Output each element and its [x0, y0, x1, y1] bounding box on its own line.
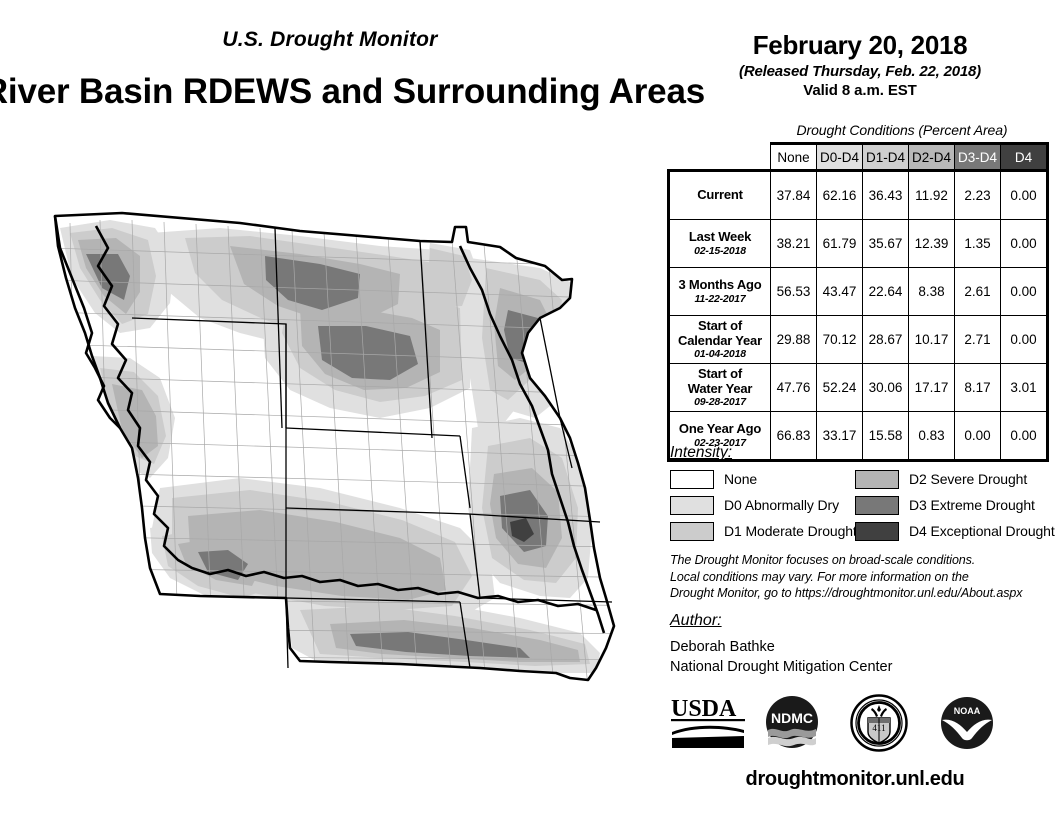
table-row-date: 11-22-2017	[672, 293, 768, 305]
table-cell-d0-d4: 52.24	[817, 364, 863, 412]
table-col-header-d2-d4: D2-D4	[909, 144, 955, 171]
table-row-date: 01-04-2018	[672, 348, 768, 360]
table-cell-d3-d4: 2.61	[955, 268, 1001, 316]
author-affiliation: National Drought Mitigation Center	[670, 657, 892, 677]
table-col-header-none: None	[771, 144, 817, 171]
table-row: Start ofCalendar Year01-04-201829.8870.1…	[669, 316, 1048, 364]
table-cell-d4: 3.01	[1001, 364, 1048, 412]
drought-conditions-table: NoneD0-D4D1-D4D2-D4D3-D4D4 Current37.846…	[667, 142, 1049, 462]
intensity-label: Intensity:	[670, 444, 1045, 462]
table-row-name: Start ofCalendar Year	[672, 319, 768, 348]
disclaimer-line: The Drought Monitor focuses on broad-sca…	[670, 552, 1050, 569]
author-name: Deborah Bathke	[670, 637, 892, 657]
legend-swatch	[855, 522, 899, 541]
date-block: February 20, 2018 (Released Thursday, Fe…	[690, 30, 1030, 99]
table-cell-d2-d4: 11.92	[909, 171, 955, 220]
legend-label: D1 Moderate Drought	[724, 523, 857, 539]
table-row-name: Start ofWater Year	[672, 367, 768, 396]
table-cell-none: 29.88	[771, 316, 817, 364]
table-cell-d1-d4: 35.67	[863, 220, 909, 268]
map-drought-layers	[0, 128, 660, 688]
table-cell-d1-d4: 30.06	[863, 364, 909, 412]
table-corner-blank	[669, 144, 771, 171]
table-cell-d4: 0.00	[1001, 220, 1048, 268]
ndmc-logo-text: NDMC	[771, 710, 813, 726]
table-row-name: Current	[672, 188, 768, 203]
table-cell-none: 38.21	[771, 220, 817, 268]
table-cell-d4: 0.00	[1001, 316, 1048, 364]
legend-label: D0 Abnormally Dry	[724, 497, 839, 513]
table-cell-d2-d4: 8.38	[909, 268, 955, 316]
author-label: Author:	[670, 612, 722, 630]
table-row-label: Current	[669, 171, 771, 220]
table-cell-d0-d4: 70.12	[817, 316, 863, 364]
table-cell-none: 47.76	[771, 364, 817, 412]
table-cell-d2-d4: 10.17	[909, 316, 955, 364]
table-cell-d1-d4: 22.64	[863, 268, 909, 316]
table-row: 3 Months Ago11-22-201756.5343.4722.648.3…	[669, 268, 1048, 316]
legend-item-d3: D3 Extreme Drought	[855, 495, 1035, 515]
table-cell-none: 37.84	[771, 171, 817, 220]
table-col-header-d0-d4: D0-D4	[817, 144, 863, 171]
legend-item-d4: D4 Exceptional Drought	[855, 521, 1055, 541]
usda-logo-text: USDA	[671, 696, 737, 722]
legend-swatch	[855, 496, 899, 515]
table-row-label: 3 Months Ago11-22-2017	[669, 268, 771, 316]
table-cell-d0-d4: 43.47	[817, 268, 863, 316]
table-row: Start ofWater Year09-28-201747.7652.2430…	[669, 364, 1048, 412]
missouri-river-basin-drought-map[interactable]	[0, 128, 660, 688]
table-col-header-d3-d4: D3-D4	[955, 144, 1001, 171]
table-caption: Drought Conditions (Percent Area)	[762, 122, 1042, 138]
table-row-label: Start ofCalendar Year01-04-2018	[669, 316, 771, 364]
svg-text:411: 411	[872, 723, 885, 733]
table-cell-d4: 0.00	[1001, 268, 1048, 316]
table-cell-d2-d4: 12.39	[909, 220, 955, 268]
table-row-name: Last Week	[672, 230, 768, 245]
page-header: U.S. Drought Monitor Missouri River Basi…	[0, 0, 1056, 120]
author-info: Deborah Bathke National Drought Mitigati…	[670, 637, 892, 677]
noaa-logo-text: NOAA	[954, 706, 981, 716]
table-row-date: 09-28-2017	[672, 396, 768, 408]
legend-label: None	[724, 471, 757, 487]
legend-item-d1: D1 Moderate Drought	[670, 521, 857, 541]
table-cell-d3-d4: 2.23	[955, 171, 1001, 220]
legend-label: D3 Extreme Drought	[909, 497, 1035, 513]
table-cell-d0-d4: 61.79	[817, 220, 863, 268]
table-cell-none: 56.53	[771, 268, 817, 316]
disclaimer-line: Local conditions may vary. For more info…	[670, 569, 1050, 586]
legend-swatch	[855, 470, 899, 489]
table-cell-d3-d4: 2.71	[955, 316, 1001, 364]
disclaimer-line: Drought Monitor, go to https://droughtmo…	[670, 585, 1050, 602]
issue-date: February 20, 2018	[690, 30, 1030, 61]
table-col-header-d4: D4	[1001, 144, 1048, 171]
table-cell-d3-d4: 8.17	[955, 364, 1001, 412]
legend-block: Intensity: NoneD0 Abnormally DryD1 Moder…	[670, 444, 1045, 547]
legend-label: D4 Exceptional Drought	[909, 523, 1055, 539]
ndmc-logo: NDMC	[764, 694, 820, 755]
table-cell-d0-d4: 62.16	[817, 171, 863, 220]
legend-label: D2 Severe Drought	[909, 471, 1027, 487]
map-svg	[0, 128, 660, 688]
table-cell-d1-d4: 28.67	[863, 316, 909, 364]
table-row: Current37.8462.1636.4311.922.230.00	[669, 171, 1048, 220]
legend-swatch	[670, 522, 714, 541]
legend-item-none: None	[670, 469, 757, 489]
site-url: droughtmonitor.unl.edu	[660, 768, 1050, 791]
table-cell-d4: 0.00	[1001, 171, 1048, 220]
table-header-row: NoneD0-D4D1-D4D2-D4D3-D4D4	[669, 144, 1048, 171]
legend-item-d2: D2 Severe Drought	[855, 469, 1027, 489]
table-row-label: Start ofWater Year09-28-2017	[669, 364, 771, 412]
usda-logo: USDA	[670, 694, 750, 755]
disclaimer-text: The Drought Monitor focuses on broad-sca…	[670, 552, 1050, 602]
legend-swatch	[670, 496, 714, 515]
table-row-name: 3 Months Ago	[672, 278, 768, 293]
table-col-header-d1-d4: D1-D4	[863, 144, 909, 171]
table-row: Last Week02-15-201838.2161.7935.6712.391…	[669, 220, 1048, 268]
legend-swatch	[670, 470, 714, 489]
noaa-logo: NOAA	[938, 694, 996, 757]
valid-time: Valid 8 a.m. EST	[690, 82, 1030, 99]
release-date: (Released Thursday, Feb. 22, 2018)	[690, 63, 1030, 80]
legend-grid: NoneD0 Abnormally DryD1 Moderate Drought…	[670, 469, 1045, 547]
table-row-name: One Year Ago	[672, 422, 768, 437]
legend-item-d0: D0 Abnormally Dry	[670, 495, 839, 515]
table-cell-d3-d4: 1.35	[955, 220, 1001, 268]
table-cell-d1-d4: 36.43	[863, 171, 909, 220]
logo-row: USDA NDMC 411	[660, 694, 1050, 756]
table-row-label: Last Week02-15-2018	[669, 220, 771, 268]
table-row-date: 02-15-2018	[672, 245, 768, 257]
table-cell-d2-d4: 17.17	[909, 364, 955, 412]
usdc-seal-logo: 411	[850, 694, 908, 757]
page-title: Missouri River Basin RDEWS and Surroundi…	[0, 72, 718, 112]
dm-subtitle: U.S. Drought Monitor	[0, 28, 660, 52]
